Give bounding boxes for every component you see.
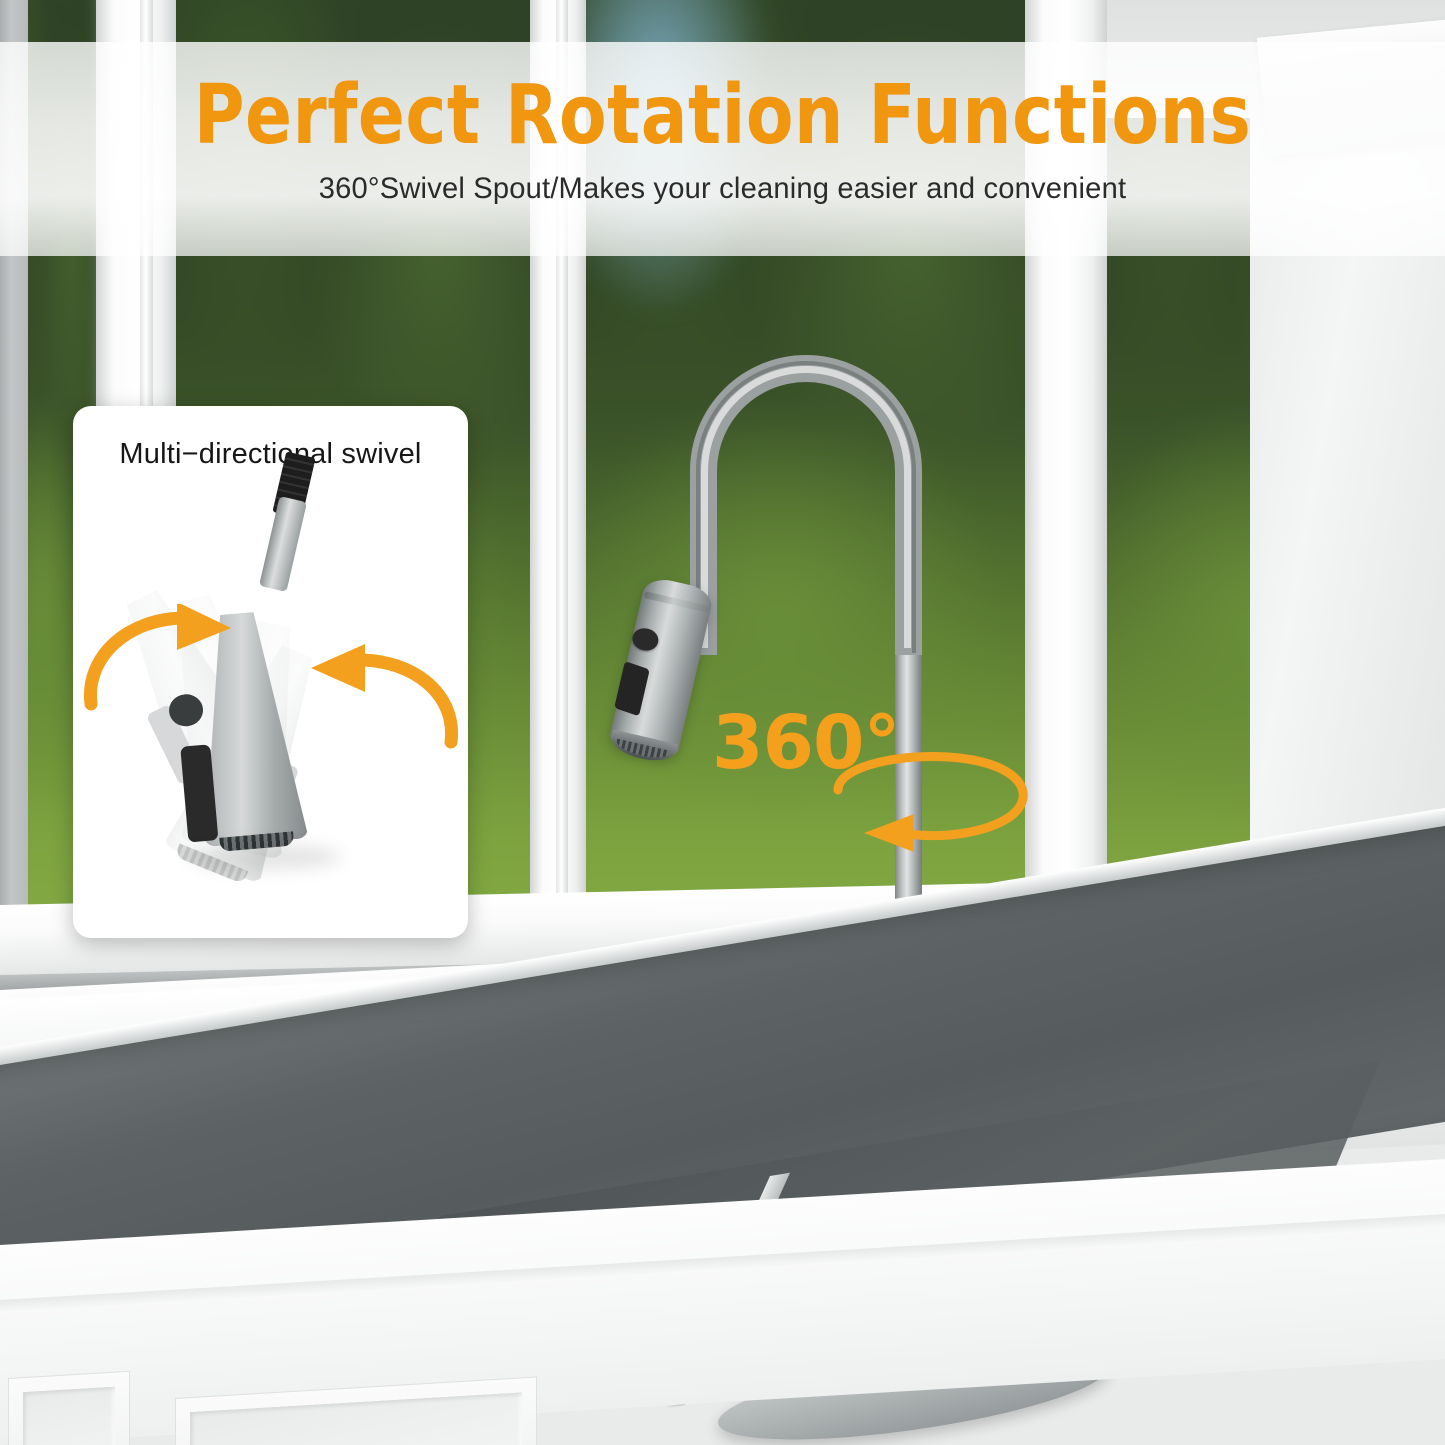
rotation-annotation: 360° — [712, 706, 1042, 866]
card-title: Multi−directional swivel — [73, 438, 468, 471]
multi-directional-swivel-card: Multi−directional swivel — [73, 406, 468, 938]
swivel-illustration — [73, 492, 468, 932]
illustration-shadow — [191, 844, 341, 870]
swivel-arrow-right-icon — [271, 642, 461, 752]
product-banner: 360° Perfect Rotation Functions 360°Swiv… — [0, 0, 1445, 1445]
page-subtitle: 360°Swivel Spout/Makes your cleaning eas… — [22, 172, 1424, 206]
rotation-arrow-icon — [830, 744, 1042, 854]
swivel-arrow-left-icon — [81, 604, 271, 714]
cabinet-door — [8, 1371, 130, 1445]
faucet-arch-highlight — [701, 366, 911, 648]
header-banner: Perfect Rotation Functions 360°Swivel Sp… — [0, 42, 1445, 256]
pull-down-sprayer-head — [596, 573, 723, 777]
page-title: Perfect Rotation Functions — [43, 68, 1401, 163]
sprayer-stem — [259, 496, 307, 592]
